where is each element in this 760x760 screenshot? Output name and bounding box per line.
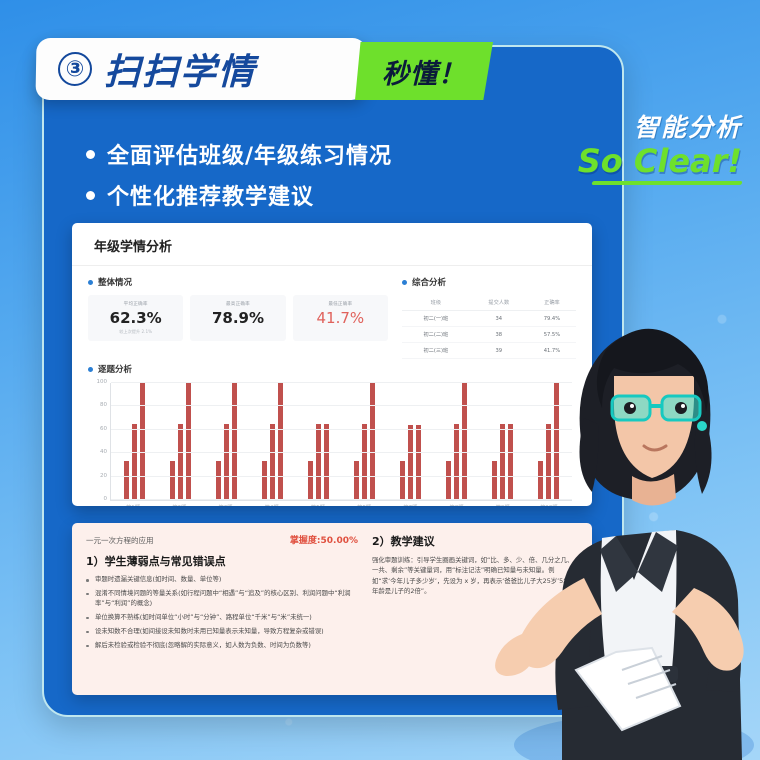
stat-card: 最低正确率41.7% <box>293 295 388 341</box>
chart-y-tick-label: 0 <box>104 496 108 502</box>
list-item: 单位换算不熟练(如时间单位“小时”与“分钟”、路程单位“千米”与“米”未统一) <box>86 613 358 623</box>
chart-bar-group <box>157 383 203 500</box>
advice-topic: 一元一次方程的应用 <box>86 535 154 546</box>
chart-bar <box>178 424 183 500</box>
list-item: 解后未检验或检验不彻底(忽略解的实际意义，如人数为负数、时间为负数等) <box>86 641 358 651</box>
chart-bar <box>170 461 175 500</box>
chart-bar <box>354 461 359 500</box>
feature-bullet-list: 全面评估班级/年级练习情况 个性化推荐教学建议 <box>86 138 392 220</box>
analysis-section-label: 综合分析 <box>412 276 446 288</box>
chart-bar <box>308 461 313 500</box>
chart-bar <box>278 383 283 500</box>
chart-bar <box>454 424 459 500</box>
badge-miaodong: 秒懂！ <box>355 42 493 100</box>
chart-bar <box>362 424 367 500</box>
stat-card-row: 平均正确率62.3%较上次提升 2.1%最高正确率78.9%最低正确率41.7% <box>88 295 388 341</box>
bullet-label: 个性化推荐教学建议 <box>107 179 314 211</box>
chart-bar <box>324 424 329 500</box>
bullet-dot-icon <box>86 191 95 200</box>
chart-bar-group <box>249 383 295 500</box>
chart-x-tick-label: 第2题 <box>156 503 202 506</box>
chart-bar <box>446 461 451 500</box>
list-item: 全面评估班级/年级练习情况 <box>86 138 392 170</box>
slogan-underline <box>591 181 742 185</box>
chart-x-tick-label: 第5题 <box>295 503 341 506</box>
chart-bar <box>270 424 275 500</box>
chart-bar <box>400 461 405 500</box>
header-tab: ③ 扫扫学情 <box>35 38 366 100</box>
badge-label: 秒懂！ <box>382 52 466 91</box>
chart-bar-group <box>111 383 157 500</box>
chart-bar <box>124 461 129 500</box>
chart-y-tick-label: 80 <box>100 402 107 408</box>
list-item: 设未知数不合理(如间接设未知数时未用已知量表示未知量，导致方程复杂或错误) <box>86 627 358 637</box>
weakness-heading: 1）学生薄弱点与常见错误点 <box>86 553 358 569</box>
list-item: 个性化推荐教学建议 <box>86 179 392 211</box>
step-number-icon: ③ <box>58 52 93 86</box>
stat-sublabel: 较上次提升 2.1% <box>90 329 181 335</box>
chart-bar-group <box>203 383 249 500</box>
overall-section-label: 整体情况 <box>98 276 132 288</box>
chart-bar <box>216 461 221 500</box>
list-item: 混淆不同情境问题的等量关系(如行程问题中“相遇”与“追及”的核心区别、利润问题中… <box>86 589 358 609</box>
chart-bar-group <box>295 383 341 500</box>
slogan-en: So Clear! <box>532 142 742 180</box>
chart-x-tick-label: 第3题 <box>202 503 248 506</box>
teacher-character-illustration <box>466 200 760 760</box>
table-cell: 初二(一)班 <box>402 311 470 327</box>
bullet-dot-icon <box>86 150 95 159</box>
chart-bar <box>132 424 137 500</box>
section-dot-icon <box>88 280 93 285</box>
table-cell: 初二(二)班 <box>402 327 470 343</box>
chart-y-tick-label: 60 <box>100 426 107 432</box>
slogan-block: 智能分析 So Clear! <box>532 108 742 185</box>
poster-stage: ③ 扫扫学情 秒懂！ 智能分析 So Clear! 全面评估班级/年级练习情况 … <box>0 0 760 760</box>
chart-bar-group <box>388 383 434 500</box>
stat-label: 最高正确率 <box>192 301 283 307</box>
table-cell: 初二(三)班 <box>402 343 470 359</box>
chart-bar-group <box>341 383 387 500</box>
chart-x-tick-label: 第7题 <box>387 503 433 506</box>
chart-y-tick-label: 20 <box>100 473 107 479</box>
chart-bar <box>416 425 421 500</box>
chart-bar <box>262 461 267 500</box>
slogan-cn: 智能分析 <box>532 108 742 144</box>
chart-x-tick-label: 第4题 <box>249 503 295 506</box>
chart-x-tick-label: 第6题 <box>341 503 387 506</box>
page-title: 扫扫学情 <box>104 43 257 95</box>
section-dot-icon <box>88 367 93 372</box>
stat-value: 78.9% <box>192 309 283 327</box>
chart-x-tick-label: 第1题 <box>110 503 156 506</box>
overall-section-header: 整体情况 <box>88 276 388 288</box>
stat-card: 平均正确率62.3%较上次提升 2.1% <box>88 295 183 341</box>
stat-label: 最低正确率 <box>295 301 386 307</box>
stat-card: 最高正确率78.9% <box>190 295 285 341</box>
chart-section-label: 逐题分析 <box>98 363 132 375</box>
stat-value: 62.3% <box>90 309 181 327</box>
chart-y-tick-label: 40 <box>100 449 107 455</box>
chart-bar <box>316 424 321 500</box>
section-dot-icon <box>402 280 407 285</box>
chart-y-tick-label: 100 <box>97 379 108 385</box>
overall-section: 整体情况 平均正确率62.3%较上次提升 2.1%最高正确率78.9%最低正确率… <box>88 276 388 359</box>
stat-label: 平均正确率 <box>90 301 181 307</box>
table-column-header: 班级 <box>402 295 470 311</box>
chart-bar <box>140 383 145 500</box>
chart-bar <box>408 425 413 500</box>
weakness-list: 审题时遗漏关键信息(如时间、数量、单位等)混淆不同情境问题的等量关系(如行程问题… <box>86 575 358 651</box>
list-item: 审题时遗漏关键信息(如时间、数量、单位等) <box>86 575 358 585</box>
chart-bar <box>224 424 229 500</box>
chart-bar <box>232 383 237 500</box>
chart-bar <box>186 383 191 500</box>
weakness-panel: 一元一次方程的应用 掌握度:50.00% 1）学生薄弱点与常见错误点 审题时遗漏… <box>86 533 358 685</box>
stat-value: 41.7% <box>295 309 386 327</box>
mastery-badge: 掌握度:50.00% <box>290 533 358 546</box>
chart-bar <box>370 383 375 500</box>
bullet-label: 全面评估班级/年级练习情况 <box>107 138 392 170</box>
